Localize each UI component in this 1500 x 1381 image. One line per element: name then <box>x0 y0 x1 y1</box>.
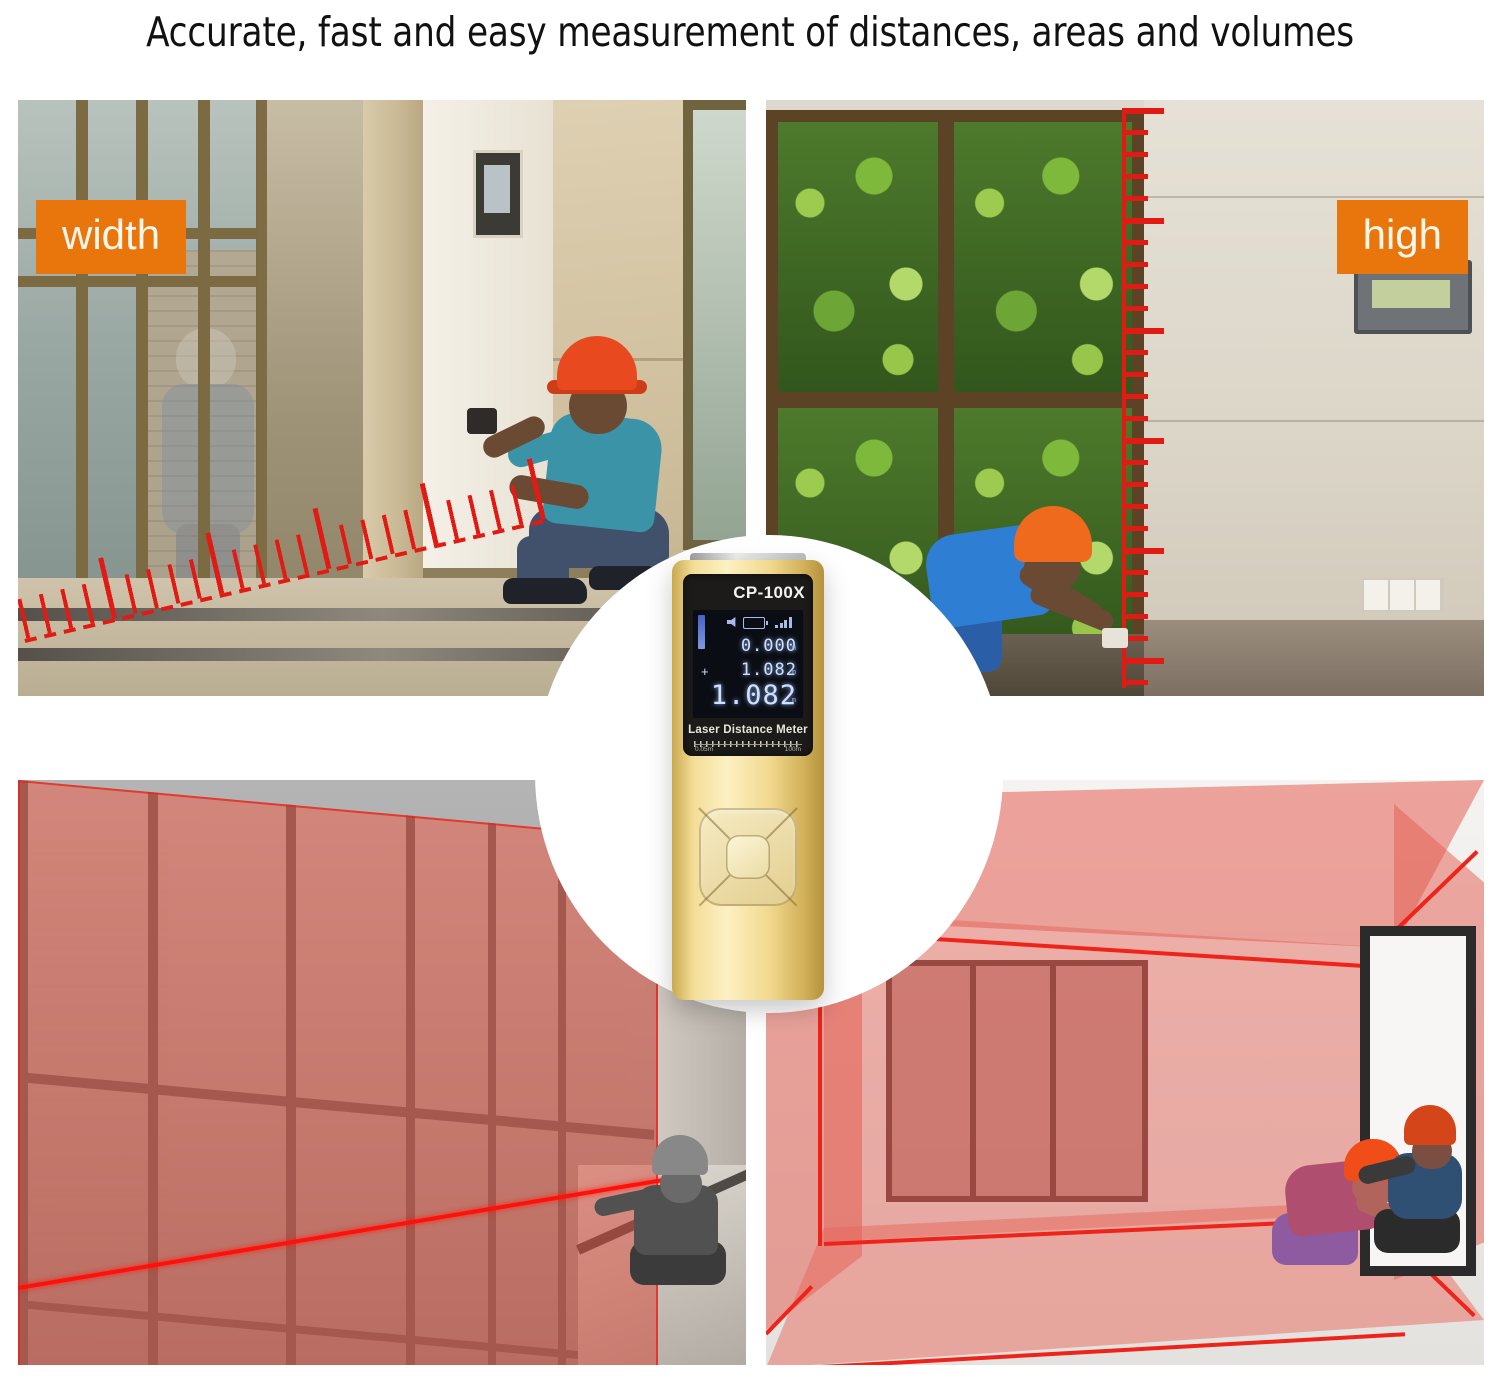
lcd-row-2-unit: m <box>792 668 797 676</box>
second-worker <box>1358 1105 1478 1255</box>
lcd-row-1: 0.000 m <box>741 636 797 656</box>
keypad-dpad[interactable] <box>699 808 797 906</box>
window-pane <box>778 122 938 392</box>
side-window <box>683 100 746 550</box>
wall-panel-box <box>473 150 523 238</box>
window-pane <box>954 122 1132 392</box>
range-min-label: 0.05m <box>695 746 713 753</box>
battery-icon <box>743 617 765 629</box>
badge-high: high <box>1337 200 1468 274</box>
range-scale-line <box>694 744 802 745</box>
lcd-display: 0.000 m + 1.082 m 1.082 m <box>693 610 803 718</box>
laser-distance-meter-device: CP-100X 0.000 m + 1.082 m 1.082 m <box>672 560 824 1000</box>
lcd-row-3-value: 1.082 <box>711 680 797 711</box>
lcd-status-bar <box>693 613 803 627</box>
lcd-row-2-value: 1.082 <box>741 660 797 680</box>
lcd-row-1-value: 0.000 <box>741 636 797 656</box>
lcd-row-2: 1.082 m <box>741 660 797 680</box>
range-max-label: 100m <box>785 746 801 753</box>
lcd-row-3-main: 1.082 m <box>711 680 797 711</box>
lcd-row-2-sign: + <box>701 664 709 679</box>
sound-icon <box>727 617 739 627</box>
device-screen-panel: CP-100X 0.000 m + 1.082 m 1.082 m <box>683 574 813 756</box>
device-model-label: CP-100X <box>683 583 805 603</box>
worker-measuring-area <box>590 1135 730 1285</box>
device-subtitle: Laser Distance Meter <box>683 724 813 736</box>
page-title: Accurate, fast and easy measurement of d… <box>53 0 1448 64</box>
light-switch-panel <box>1362 578 1444 612</box>
lcd-row-1-unit: m <box>792 644 797 652</box>
measure-button[interactable] <box>726 835 770 879</box>
lcd-row-3-unit: m <box>792 696 797 704</box>
wall-base <box>1144 620 1484 696</box>
badge-width: width <box>36 200 186 274</box>
room-window <box>886 960 1148 1202</box>
signal-icon <box>775 616 797 628</box>
